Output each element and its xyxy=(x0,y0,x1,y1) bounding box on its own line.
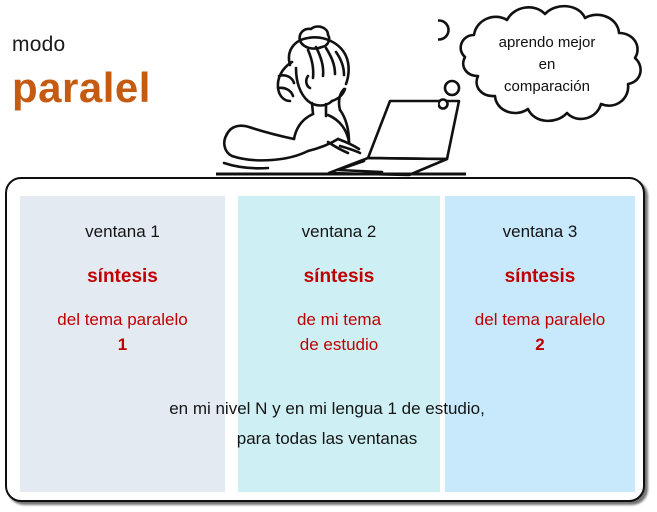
window-panel-2[interactable]: ventana 2 síntesis de mi tema de estudio xyxy=(238,196,440,492)
thought-line-3: comparación xyxy=(458,76,636,98)
window-panel-3[interactable]: ventana 3 síntesis del tema paralelo 2 xyxy=(445,196,635,492)
topic-line-2b: de estudio xyxy=(238,333,440,358)
header: modo paralel xyxy=(0,0,657,177)
window-label-3: ventana 3 xyxy=(445,222,635,242)
window-panel-1-content: ventana 1 síntesis del tema paralelo 1 xyxy=(20,196,225,357)
parallel-mode-box: ventana 1 síntesis del tema paralelo 1 v… xyxy=(5,177,645,502)
topic-label-1: del tema paralelo 1 xyxy=(20,308,225,357)
student-at-laptop-icon xyxy=(216,2,466,180)
topic-line-1a: del tema paralelo xyxy=(20,308,225,333)
window-panel-2-content: ventana 2 síntesis de mi tema de estudio xyxy=(238,196,440,357)
synthesis-label-1: síntesis xyxy=(20,266,225,288)
topic-label-3: del tema paralelo 2 xyxy=(445,308,635,357)
thought-line-2: en xyxy=(458,54,636,76)
window-panel-3-content: ventana 3 síntesis del tema paralelo 2 xyxy=(445,196,635,357)
window-label-1: ventana 1 xyxy=(20,222,225,242)
mode-title: paralel xyxy=(12,66,151,110)
thought-bubble-text: aprendo mejor en comparación xyxy=(458,32,636,97)
topic-line-1b: 1 xyxy=(20,333,225,358)
synthesis-label-3: síntesis xyxy=(445,266,635,288)
topic-line-3b: 2 xyxy=(445,333,635,358)
topic-label-2: de mi tema de estudio xyxy=(238,308,440,357)
topic-line-2a: de mi tema xyxy=(238,308,440,333)
window-columns: ventana 1 síntesis del tema paralelo 1 v… xyxy=(7,179,647,504)
thought-line-1: aprendo mejor xyxy=(458,32,636,54)
topic-line-3a: del tema paralelo xyxy=(445,308,635,333)
synthesis-label-2: síntesis xyxy=(238,266,440,288)
mode-label: modo xyxy=(12,33,65,57)
window-panel-1[interactable]: ventana 1 síntesis del tema paralelo 1 xyxy=(20,196,225,492)
window-label-2: ventana 2 xyxy=(238,222,440,242)
student-at-laptop-illustration xyxy=(216,2,466,180)
